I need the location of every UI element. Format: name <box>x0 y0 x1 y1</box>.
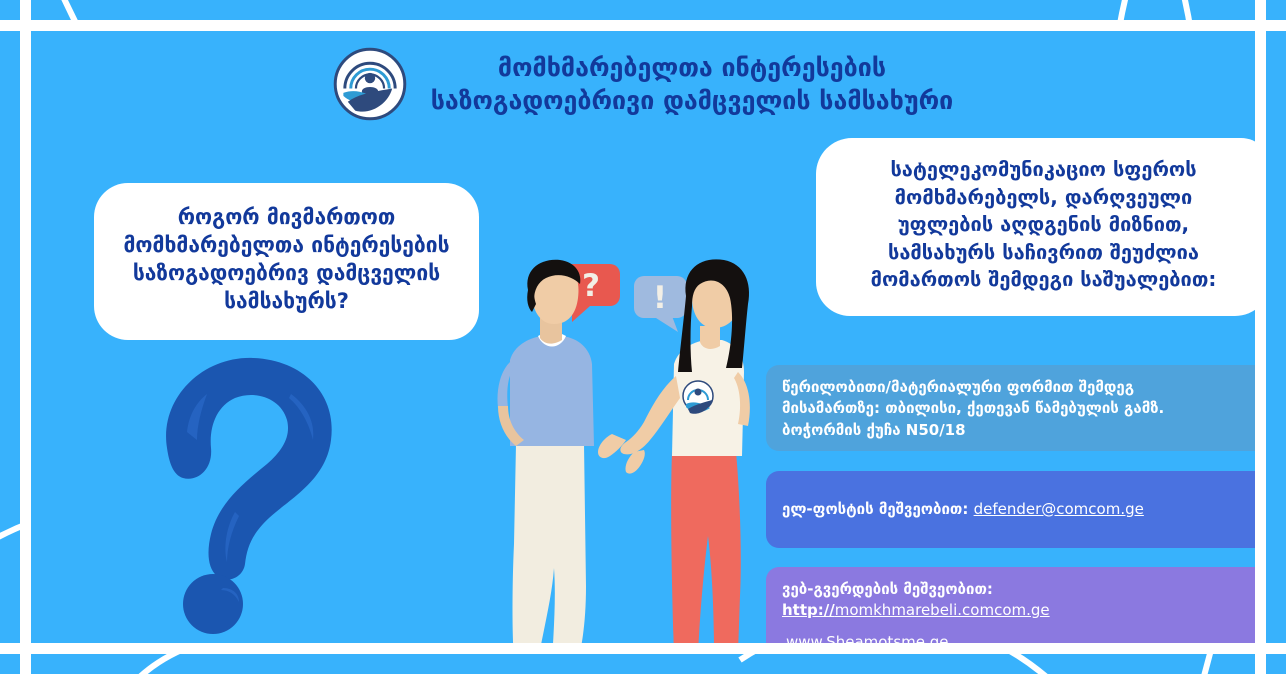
svg-text:!: ! <box>653 280 667 316</box>
right-speech-bubble: სატელეკომუნიკაციო სფეროს მომხმარებელს, დ… <box>816 138 1255 316</box>
contact-email-link[interactable]: defender@comcom.ge <box>974 500 1144 518</box>
big-question-mark-icon <box>131 336 361 643</box>
contact-email-box: ელ-ფოსტის მეშვეობით: defender@comcom.ge <box>766 471 1255 548</box>
contact-web-link-1[interactable]: http://momkhmarebeli.comcom.ge <box>782 600 1255 621</box>
left-bubble-line-4: სამსახურს? <box>116 287 457 315</box>
left-bubble-line-1: როგორ მივმართოთ <box>116 203 457 231</box>
poster-header: მომხმარებელთა ინტერესების საზოგადოებრივი… <box>31 31 1255 136</box>
organization-logo-icon <box>333 47 407 121</box>
left-bubble-line-3: საზოგადოებრივ დამცველის <box>116 259 457 287</box>
man-figure <box>498 260 595 643</box>
two-people-illustration: ? ! <box>486 256 776 643</box>
left-speech-bubble: როგორ მივმართოთ მომხმარებელთა ინტერესები… <box>94 183 479 340</box>
infographic-poster: მომხმარებელთა ინტერესების საზოგადოებრივი… <box>0 0 1286 674</box>
left-bubble-line-2: მომხმარებელთა ინტერესების <box>116 231 457 259</box>
right-bubble-line-1: სატელეკომუნიკაციო სფეროს <box>836 156 1251 184</box>
contact-address-line-1: წერილობითი/მატერიალური ფორმით შემდეგ <box>782 377 1255 398</box>
right-bubble-line-3: უფლების აღდგენის მიზნით, <box>836 211 1251 239</box>
contact-web-link-2[interactable]: www.Sheamotsme.ge <box>782 632 1255 643</box>
contact-web-box: ვებ-გვერდების მეშვეობით: http://momkhmar… <box>766 567 1255 643</box>
frame-gap-top <box>0 20 1286 31</box>
right-bubble-line-4: სამსახურს საჩივრით შეუძლია <box>836 239 1251 267</box>
frame-gap-right <box>1255 0 1266 674</box>
exclaim-speech-bubble-icon: ! <box>634 276 687 332</box>
contact-web-url1-host: momkhmarebeli.comcom.ge <box>835 601 1050 619</box>
contact-address-line-3: ბოჭორმის ქუჩა N50/18 <box>782 420 1255 441</box>
contact-address-line-2: მისამართზე: თბილისი, ქეთევან წამებულის გ… <box>782 398 1255 419</box>
page-title-line-1: მომხმარებელთა ინტერესების <box>431 51 954 84</box>
contact-web-label: ვებ-გვერდების მეშვეობით: <box>782 579 1255 600</box>
poster-inner-canvas: მომხმარებელთა ინტერესების საზოგადოებრივი… <box>31 31 1255 643</box>
contact-address-box: წერილობითი/მატერიალური ფორმით შემდეგ მის… <box>766 365 1255 451</box>
page-title: მომხმარებელთა ინტერესების საზოგადოებრივი… <box>431 51 954 117</box>
right-bubble-line-5: მომართოს შემდეგი საშუალებით: <box>836 266 1251 294</box>
contact-web-url1-scheme: http:// <box>782 601 835 619</box>
right-bubble-line-2: მომხმარებელს, დარღვეული <box>836 184 1251 212</box>
contact-email-label: ელ-ფოსტის მეშვეობით: <box>782 500 968 518</box>
svg-text:?: ? <box>582 268 600 304</box>
frame-gap-left <box>20 0 31 674</box>
page-title-line-2: საზოგადოებრივი დამცველის სამსახური <box>431 84 954 117</box>
frame-gap-bottom <box>0 643 1286 654</box>
